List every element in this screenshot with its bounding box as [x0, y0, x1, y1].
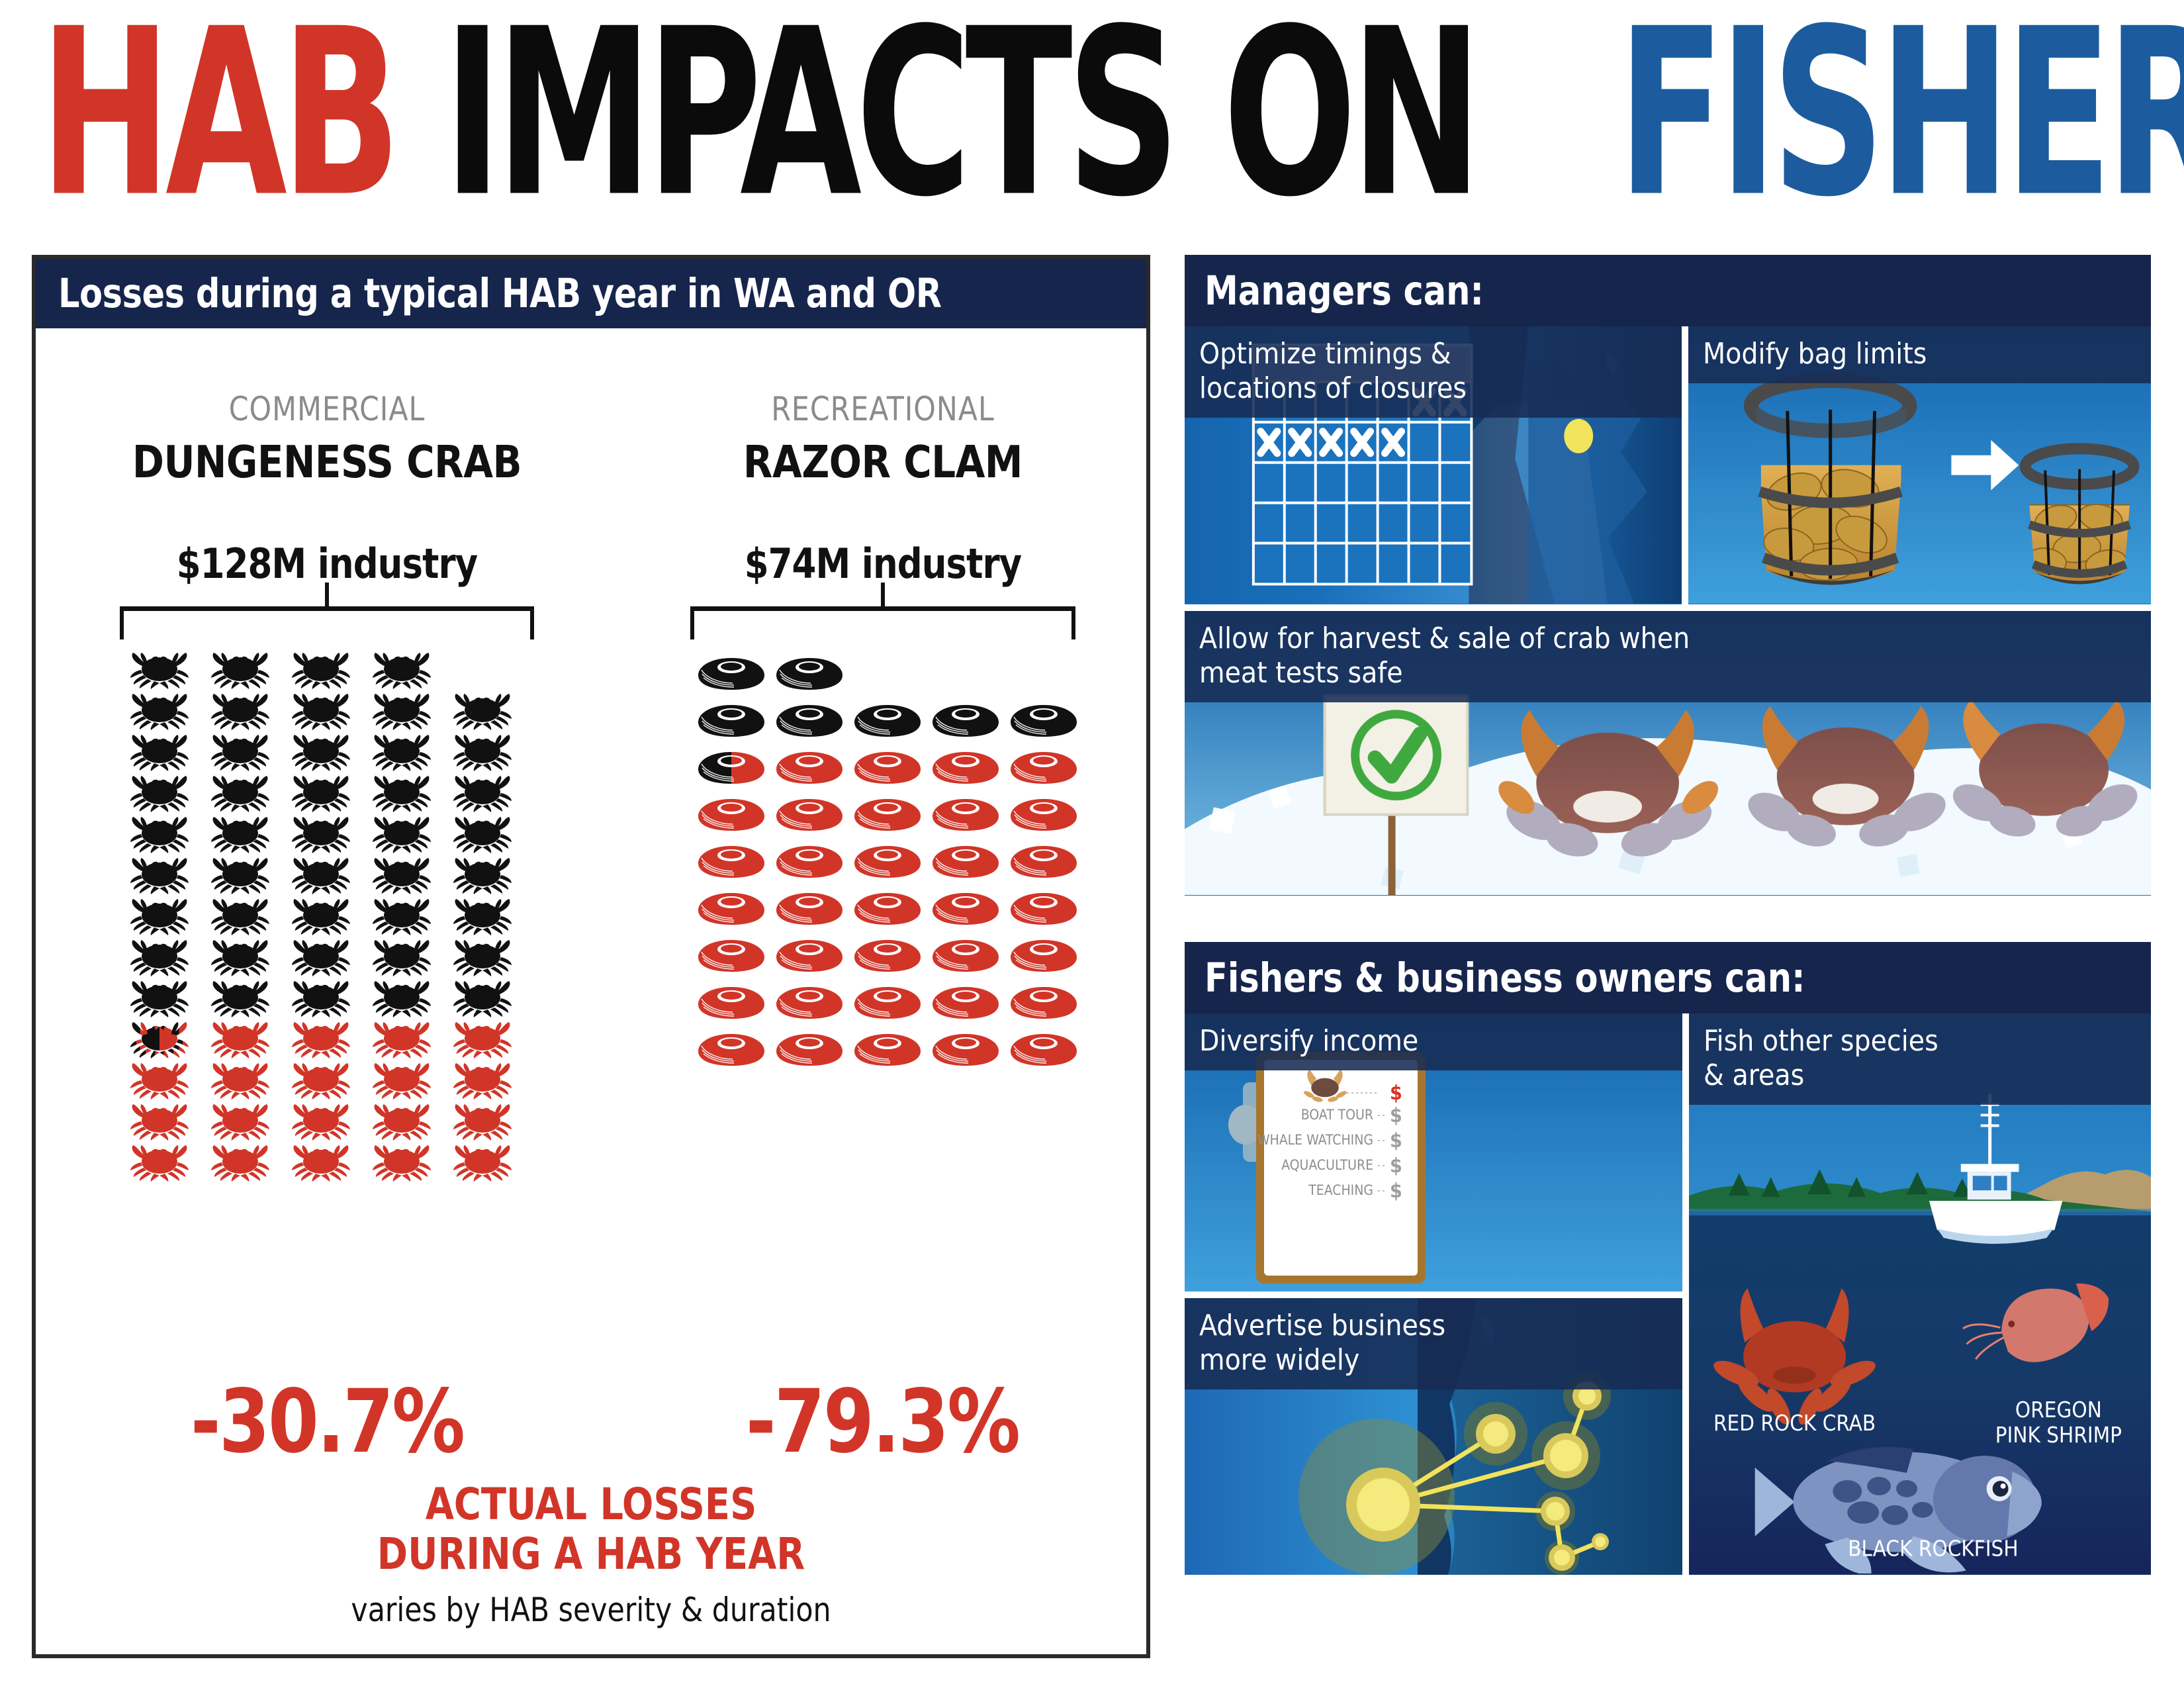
crab-icon [287, 816, 355, 854]
pictogram-icon [119, 691, 200, 732]
bottom-strip [0, 1672, 2184, 1688]
managers-tile-row-1: Optimize timings &locations of closures [1185, 326, 2151, 604]
pictogram-icon [848, 697, 927, 744]
crab-icon [125, 898, 194, 936]
pictogram-icon [361, 1019, 442, 1060]
pictogram-icon [1005, 1026, 1083, 1073]
bracket-tick-right [1071, 606, 1075, 639]
crab-icon [287, 1144, 355, 1182]
pictogram-icon [848, 838, 927, 885]
crab-icon [287, 774, 355, 813]
species-label-oregon-pink-shrimp-line1: OREGON [2015, 1397, 2102, 1423]
pictogram-row [692, 791, 1148, 838]
pictogram-row [119, 814, 618, 855]
losses-panel-body: COMMERCIAL DUNGENESS CRAB $128M industry… [36, 328, 1146, 1654]
pictogram-icon [361, 855, 442, 896]
pictogram-icon [119, 896, 200, 937]
pictogram-icon [200, 732, 281, 773]
clam-icon [775, 796, 844, 833]
pictogram-icon [200, 1060, 281, 1102]
percent-row: -30.7% -79.3% [36, 1371, 1146, 1473]
pictogram-icon [361, 937, 442, 978]
right-column: Managers can: [1185, 255, 2151, 1575]
pictogram-icon [200, 896, 281, 937]
clam-icon [697, 655, 766, 692]
pictogram-icon [692, 650, 770, 697]
tile-advertise-business[interactable]: Advertise businessmore widely [1185, 1298, 1682, 1575]
pictogram-icon [281, 1143, 361, 1184]
category-label-commercial: COMMERCIAL [50, 390, 604, 428]
pictogram-icon [281, 773, 361, 814]
pictogram-icon [770, 838, 848, 885]
species-label-black-rockfish: BLACK ROCKFISH [1848, 1536, 2018, 1562]
pictogram-row [692, 932, 1148, 979]
managers-tile-row-2: Allow for harvest & sale of crab whenmea… [1185, 611, 2151, 896]
clam-icon [1009, 843, 1078, 880]
crab-icon [206, 733, 275, 772]
pictogram-icon [281, 1102, 361, 1143]
pictogram-icon [848, 885, 927, 932]
pictogram-icon [927, 979, 1005, 1026]
pictogram-icon [442, 732, 523, 773]
pictogram-icon [1005, 838, 1083, 885]
pictogram-row [119, 691, 618, 732]
pictogram-row [692, 885, 1148, 932]
pictogram-icon [361, 1060, 442, 1102]
pictogram-icon [119, 773, 200, 814]
crab-icon [287, 1103, 355, 1141]
species-label-red-rock-crab: RED ROCK CRAB [1713, 1410, 1876, 1436]
pictogram-icon [281, 691, 361, 732]
pictogram-icon [442, 814, 523, 855]
crab-icon [287, 733, 355, 772]
percent-loss-clam: -79.3% [637, 1371, 1128, 1473]
pictogram-icon [200, 1102, 281, 1143]
pictogram-icon [442, 691, 523, 732]
clam-icon [931, 984, 1000, 1021]
pictogram-icon [927, 885, 1005, 932]
pictogram-icon [927, 1026, 1005, 1073]
bracket-bar [120, 606, 534, 611]
pictogram-icon [692, 791, 770, 838]
pictogram-row [119, 978, 618, 1019]
clam-icon [931, 749, 1000, 786]
clam-icon [1009, 1031, 1078, 1068]
loss-caption: ACTUAL LOSSES DURING A HAB YEAR varies b… [36, 1480, 1146, 1629]
clam-icon [697, 843, 766, 880]
crab-icon [367, 816, 436, 854]
title-word-impacts: IMPACTS ON [443, 8, 1477, 220]
pictogram-icon [442, 1019, 523, 1060]
clam-icon [1009, 984, 1078, 1021]
pictogram-icon [770, 932, 848, 979]
pictogram-icon [361, 1102, 442, 1143]
losses-panel-title: Losses during a typical HAB year in WA a… [58, 270, 942, 317]
pictogram-icon [442, 978, 523, 1019]
pictogram-icon [692, 885, 770, 932]
clam-icon [1009, 937, 1078, 974]
clam-icon [697, 749, 766, 786]
pictogram-row [692, 697, 1148, 744]
clam-icon [931, 702, 1000, 739]
svg-text:BOAT TOUR: BOAT TOUR [1301, 1107, 1373, 1123]
crab-icon [206, 692, 275, 731]
crab-icon [287, 692, 355, 731]
crab-icon [287, 939, 355, 977]
pictogram-icon [1005, 744, 1083, 791]
clam-icon [853, 937, 922, 974]
pictogram-icon [770, 697, 848, 744]
pictogram-icon [200, 773, 281, 814]
pictogram-row [692, 744, 1148, 791]
crab-icon [367, 857, 436, 895]
crab-icon [448, 692, 517, 731]
clam-icon [853, 702, 922, 739]
clam-icon [931, 843, 1000, 880]
pictogram-row [119, 937, 618, 978]
crab-icon [448, 1021, 517, 1059]
pictogram-icon [361, 732, 442, 773]
pictogram-icon [442, 1102, 523, 1143]
pictogram-icon [361, 814, 442, 855]
crab-icon [448, 980, 517, 1018]
crab-icon [367, 774, 436, 813]
clam-icon [853, 1031, 922, 1068]
pictogram-row [119, 1143, 618, 1184]
clam-icon [931, 890, 1000, 927]
crab-icon [125, 774, 194, 813]
pictogram-icon [361, 978, 442, 1019]
loss-caption-line2: DURING A HAB YEAR [69, 1530, 1113, 1579]
svg-text:$: $ [1390, 1129, 1402, 1152]
bracket-tick-left [690, 606, 694, 639]
pictogram-row [692, 1026, 1148, 1073]
clam-icon [697, 702, 766, 739]
crab-icon [125, 733, 194, 772]
bracket-stem [881, 583, 885, 608]
svg-text:$: $ [1390, 1180, 1402, 1203]
pictogram-icon [770, 650, 848, 697]
clam-icon [697, 984, 766, 1021]
pictogram-icon [692, 744, 770, 791]
pictogram-icon [692, 838, 770, 885]
pictogram-icon [848, 979, 927, 1026]
crab-icon [367, 1021, 436, 1059]
crab-icon [367, 939, 436, 977]
crab-icon [367, 1103, 436, 1141]
clam-icon [775, 937, 844, 974]
pictogram-icon [361, 896, 442, 937]
crab-icon [125, 939, 194, 977]
pictogram-icon [442, 1143, 523, 1184]
crab-icon [206, 651, 275, 690]
crab-icon [367, 980, 436, 1018]
clam-icon [1009, 796, 1078, 833]
clam-icon [853, 890, 922, 927]
pictogram-icon [442, 855, 523, 896]
pictogram-icon [1005, 697, 1083, 744]
pictogram-icon [848, 744, 927, 791]
clam-icon [931, 1031, 1000, 1068]
pictogram-icon [281, 1019, 361, 1060]
crab-icon [125, 1062, 194, 1100]
crab-icon [448, 939, 517, 977]
pictogram-row [119, 896, 618, 937]
pictogram-icon [770, 979, 848, 1026]
pictogram-icon [119, 650, 200, 691]
pictogram-icon [442, 937, 523, 978]
clam-icon [853, 749, 922, 786]
pictogram-icon [1005, 932, 1083, 979]
page-title: HAB IMPACTS ON FISHERIES [0, 0, 2184, 233]
svg-text:$: $ [1390, 1104, 1402, 1127]
crab-icon [206, 1144, 275, 1182]
pictogram-icon [770, 1026, 848, 1073]
crab-icon [448, 1103, 517, 1141]
crab-icon [125, 1103, 194, 1141]
pictogram-icon [281, 814, 361, 855]
clam-icon [775, 702, 844, 739]
bracket-tick-right [530, 606, 534, 639]
fishers-tile-row: BOAT TOUR WHALE WATCHING AQUACULTURE TEA… [1185, 1013, 2151, 1575]
pictogram-icon [442, 1060, 523, 1102]
clam-icon [853, 843, 922, 880]
pictogram-row [119, 732, 618, 773]
crab-icon [125, 692, 194, 731]
pictogram-icon [281, 855, 361, 896]
clam-icon [775, 655, 844, 692]
svg-text:$: $ [1390, 1154, 1402, 1178]
pictogram-icon [927, 744, 1005, 791]
tile-bag-caption: Modify bag limits [1688, 326, 2151, 383]
tile-modify-bag-limits[interactable]: Modify bag limits [1688, 326, 2151, 604]
pictogram-icon [442, 773, 523, 814]
pictogram-icon [770, 744, 848, 791]
crab-icon [206, 898, 275, 936]
pictogram-icon [281, 978, 361, 1019]
pictogram-icon [119, 1143, 200, 1184]
pictogram-icon [927, 791, 1005, 838]
clam-icon [697, 890, 766, 927]
bracket-clam [690, 606, 1075, 641]
crab-icon [287, 898, 355, 936]
clam-icon [775, 843, 844, 880]
pictogram-icon [200, 978, 281, 1019]
column-dungeness-crab: COMMERCIAL DUNGENESS CRAB $128M industry [36, 328, 618, 1184]
svg-text:WHALE WATCHING: WHALE WATCHING [1257, 1132, 1373, 1148]
pictogram-icon [281, 1060, 361, 1102]
pictogram-row [119, 650, 618, 691]
pictogram-row [692, 838, 1148, 885]
tile-harvest-caption: Allow for harvest & sale of crab whenmea… [1185, 611, 2151, 702]
pictogram-icon [692, 979, 770, 1026]
pictogram-icon [281, 650, 361, 691]
pictogram-icon [927, 697, 1005, 744]
tile-diversify-caption: Diversify income [1185, 1013, 1682, 1070]
crab-icon [125, 1021, 194, 1059]
crab-icon [367, 692, 436, 731]
species-label-razor-clam: RAZOR CLAM [629, 436, 1137, 488]
crab-icon [206, 1062, 275, 1100]
pictogram-icon [361, 650, 442, 691]
crab-icon [287, 1062, 355, 1100]
pictogram-row [119, 1102, 618, 1143]
pictogram-icon [200, 1019, 281, 1060]
pictogram-icon [119, 978, 200, 1019]
tile-optimize-closures[interactable]: Optimize timings &locations of closures [1185, 326, 1682, 604]
pictogram-row [119, 1060, 618, 1102]
fishers-left-stack: BOAT TOUR WHALE WATCHING AQUACULTURE TEA… [1185, 1013, 1682, 1575]
pictogram-icon [119, 732, 200, 773]
pictogram-icon [692, 697, 770, 744]
pictogram-icon [119, 1019, 200, 1060]
clam-icon [931, 937, 1000, 974]
pictogram-icon [200, 650, 281, 691]
pictogram-icon [442, 896, 523, 937]
crab-icon [125, 1144, 194, 1182]
pictogram-icon [1005, 885, 1083, 932]
species-label-oregon-pink-shrimp-line2: PINK SHRIMP [1995, 1422, 2122, 1448]
crab-icon [448, 898, 517, 936]
crab-icon [206, 857, 275, 895]
pictogram-icon [200, 1143, 281, 1184]
fishers-header-text: Fishers & business owners can: [1205, 955, 1805, 1002]
pictogram-icon [119, 1102, 200, 1143]
clam-icon [853, 796, 922, 833]
category-label-recreational: RECREATIONAL [631, 390, 1134, 428]
clam-icon [931, 796, 1000, 833]
losses-panel: Losses during a typical HAB year in WA a… [32, 255, 1150, 1658]
tile-diversify-income[interactable]: BOAT TOUR WHALE WATCHING AQUACULTURE TEA… [1185, 1013, 1682, 1291]
losses-panel-header: Losses during a typical HAB year in WA a… [36, 259, 1146, 328]
crab-icon [287, 1021, 355, 1059]
loss-caption-note: varies by HAB severity & duration [64, 1591, 1118, 1629]
bracket-tick-left [120, 606, 124, 639]
tile-advertise-caption: Advertise businessmore widely [1185, 1298, 1682, 1389]
pictogram-row [119, 1019, 618, 1060]
pictogram-icon [281, 896, 361, 937]
pictogram-icon [927, 932, 1005, 979]
crab-icon [367, 733, 436, 772]
pictogram-icon [200, 937, 281, 978]
percent-loss-crab: -30.7% [56, 1371, 598, 1473]
pictogram-icon [770, 791, 848, 838]
crab-icon [125, 980, 194, 1018]
crab-icon [367, 898, 436, 936]
pictogram-icon [770, 885, 848, 932]
crab-icon [206, 774, 275, 813]
clam-icon [775, 890, 844, 927]
pictogram-icon [927, 838, 1005, 885]
crab-icon [448, 733, 517, 772]
crab-icon [125, 816, 194, 854]
pictogram-icon [692, 1026, 770, 1073]
pictogram-grid-crab [36, 650, 618, 1184]
pictogram-icon [1005, 979, 1083, 1026]
crab-icon [448, 816, 517, 854]
section-fishers: Fishers & business owners can: [1185, 942, 2151, 1575]
title-word-fisheries: FISHERIES [1617, 8, 2184, 220]
crab-icon [206, 1103, 275, 1141]
crab-icon [367, 1144, 436, 1182]
crab-icon [125, 857, 194, 895]
crab-icon [287, 980, 355, 1018]
clam-icon [1009, 702, 1078, 739]
clam-icon [1009, 890, 1078, 927]
title-word-hab: HAB [40, 8, 395, 220]
clam-icon [697, 796, 766, 833]
pictogram-icon [119, 855, 200, 896]
industry-value-clam: $74M industry [631, 539, 1134, 588]
fishers-header: Fishers & business owners can: [1185, 942, 2151, 1013]
pictogram-icon [119, 937, 200, 978]
crab-icon [287, 857, 355, 895]
pictogram-icon [200, 691, 281, 732]
clam-icon [775, 1031, 844, 1068]
crab-icon [287, 651, 355, 690]
crab-icon [448, 1062, 517, 1100]
section-managers: Managers can: [1185, 255, 2151, 896]
pictogram-icon [692, 932, 770, 979]
clam-icon [775, 984, 844, 1021]
crab-icon [367, 1062, 436, 1100]
managers-header: Managers can: [1185, 255, 2151, 326]
pictogram-icon [361, 1143, 442, 1184]
bracket-bar [690, 606, 1075, 611]
crab-icon [125, 651, 194, 690]
crab-icon [367, 651, 436, 690]
pictogram-icon [200, 814, 281, 855]
pictogram-icon [848, 791, 927, 838]
pictogram-grid-clam [618, 650, 1148, 1073]
tile-fish-other-species[interactable]: RED ROCK CRAB OREGON PINK SHRIMP [1689, 1013, 2151, 1575]
column-razor-clam: RECREATIONAL RAZOR CLAM $74M industry [618, 328, 1148, 1073]
crab-icon [206, 939, 275, 977]
svg-text:$: $ [1390, 1082, 1402, 1105]
pictogram-row [692, 979, 1148, 1026]
bracket-crab [120, 606, 534, 641]
svg-text:AQUACULTURE: AQUACULTURE [1281, 1157, 1373, 1173]
crab-icon [448, 857, 517, 895]
tile-allow-harvest[interactable]: Allow for harvest & sale of crab whenmea… [1185, 611, 2151, 896]
crab-icon [206, 1021, 275, 1059]
pictogram-icon [1005, 791, 1083, 838]
pictogram-icon [281, 732, 361, 773]
pictogram-row [119, 773, 618, 814]
crab-icon [206, 980, 275, 1018]
pictogram-icon [281, 937, 361, 978]
tile-fish-species-caption: Fish other species& areas [1689, 1013, 2151, 1105]
tile-optimize-caption: Optimize timings &locations of closures [1185, 326, 1682, 418]
clam-icon [697, 1031, 766, 1068]
pictogram-icon [361, 691, 442, 732]
pictogram-icon [848, 932, 927, 979]
pictogram-row [119, 855, 618, 896]
pictogram-icon [848, 1026, 927, 1073]
crab-icon [448, 774, 517, 813]
clam-icon [775, 749, 844, 786]
clam-icon [1009, 749, 1078, 786]
clam-icon [697, 937, 766, 974]
pictogram-icon [119, 814, 200, 855]
pictogram-row [692, 650, 1148, 697]
svg-text:TEACHING: TEACHING [1308, 1182, 1373, 1198]
pictogram-icon [361, 773, 442, 814]
industry-value-crab: $128M industry [50, 539, 604, 588]
loss-caption-line1: ACTUAL LOSSES [69, 1480, 1113, 1530]
pictogram-icon [200, 855, 281, 896]
managers-header-text: Managers can: [1205, 267, 1484, 314]
